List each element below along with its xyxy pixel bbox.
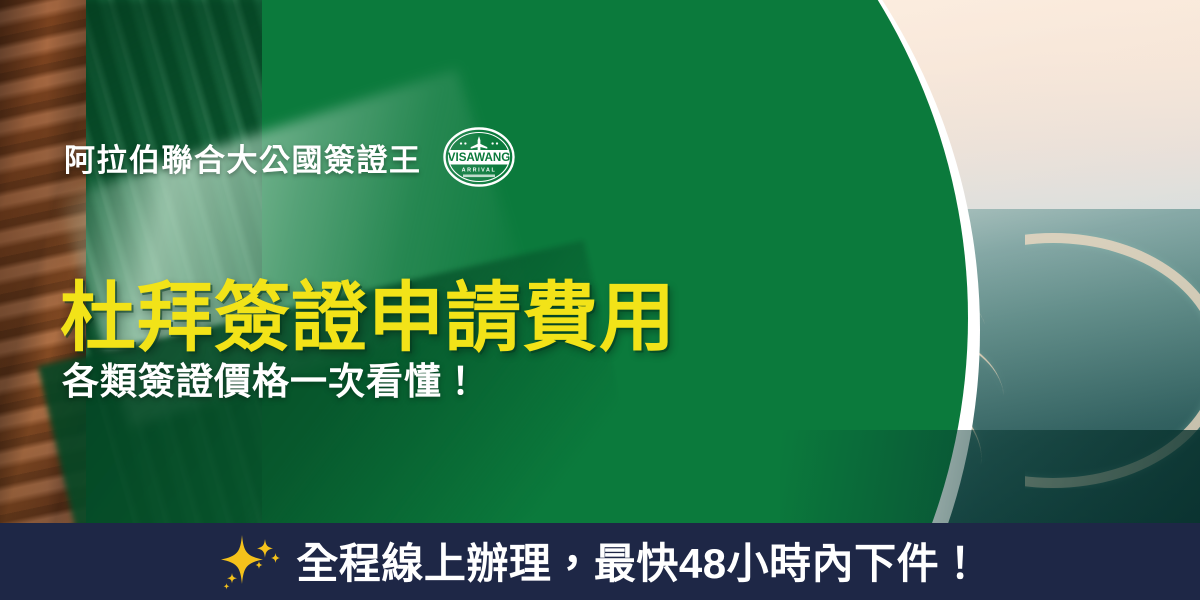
eyebrow-row: 阿拉伯聯合大公國簽證王 VISAWANG ARRIVAL	[64, 126, 516, 188]
promo-banner: 阿拉伯聯合大公國簽證王 VISAWANG ARRIVAL	[0, 0, 1200, 600]
page-subtitle: 各類簽證價格一次看懂！	[62, 363, 480, 400]
bottom-callout-text: 全程線上辦理，最快48小時內下件！	[296, 530, 981, 591]
page-title: 杜拜簽證申請費用	[60, 281, 676, 357]
logo-brand-text: VISAWANG	[447, 151, 510, 164]
visawang-logo[interactable]: VISAWANG ARRIVAL	[442, 126, 516, 188]
logo-tagline-text: ARRIVAL	[461, 168, 496, 174]
eyebrow-text: 阿拉伯聯合大公國簽證王	[64, 135, 422, 180]
bottom-callout-bar: 全程線上辦理，最快48小時內下件！	[0, 523, 1200, 600]
sparkle-icon	[218, 531, 284, 593]
